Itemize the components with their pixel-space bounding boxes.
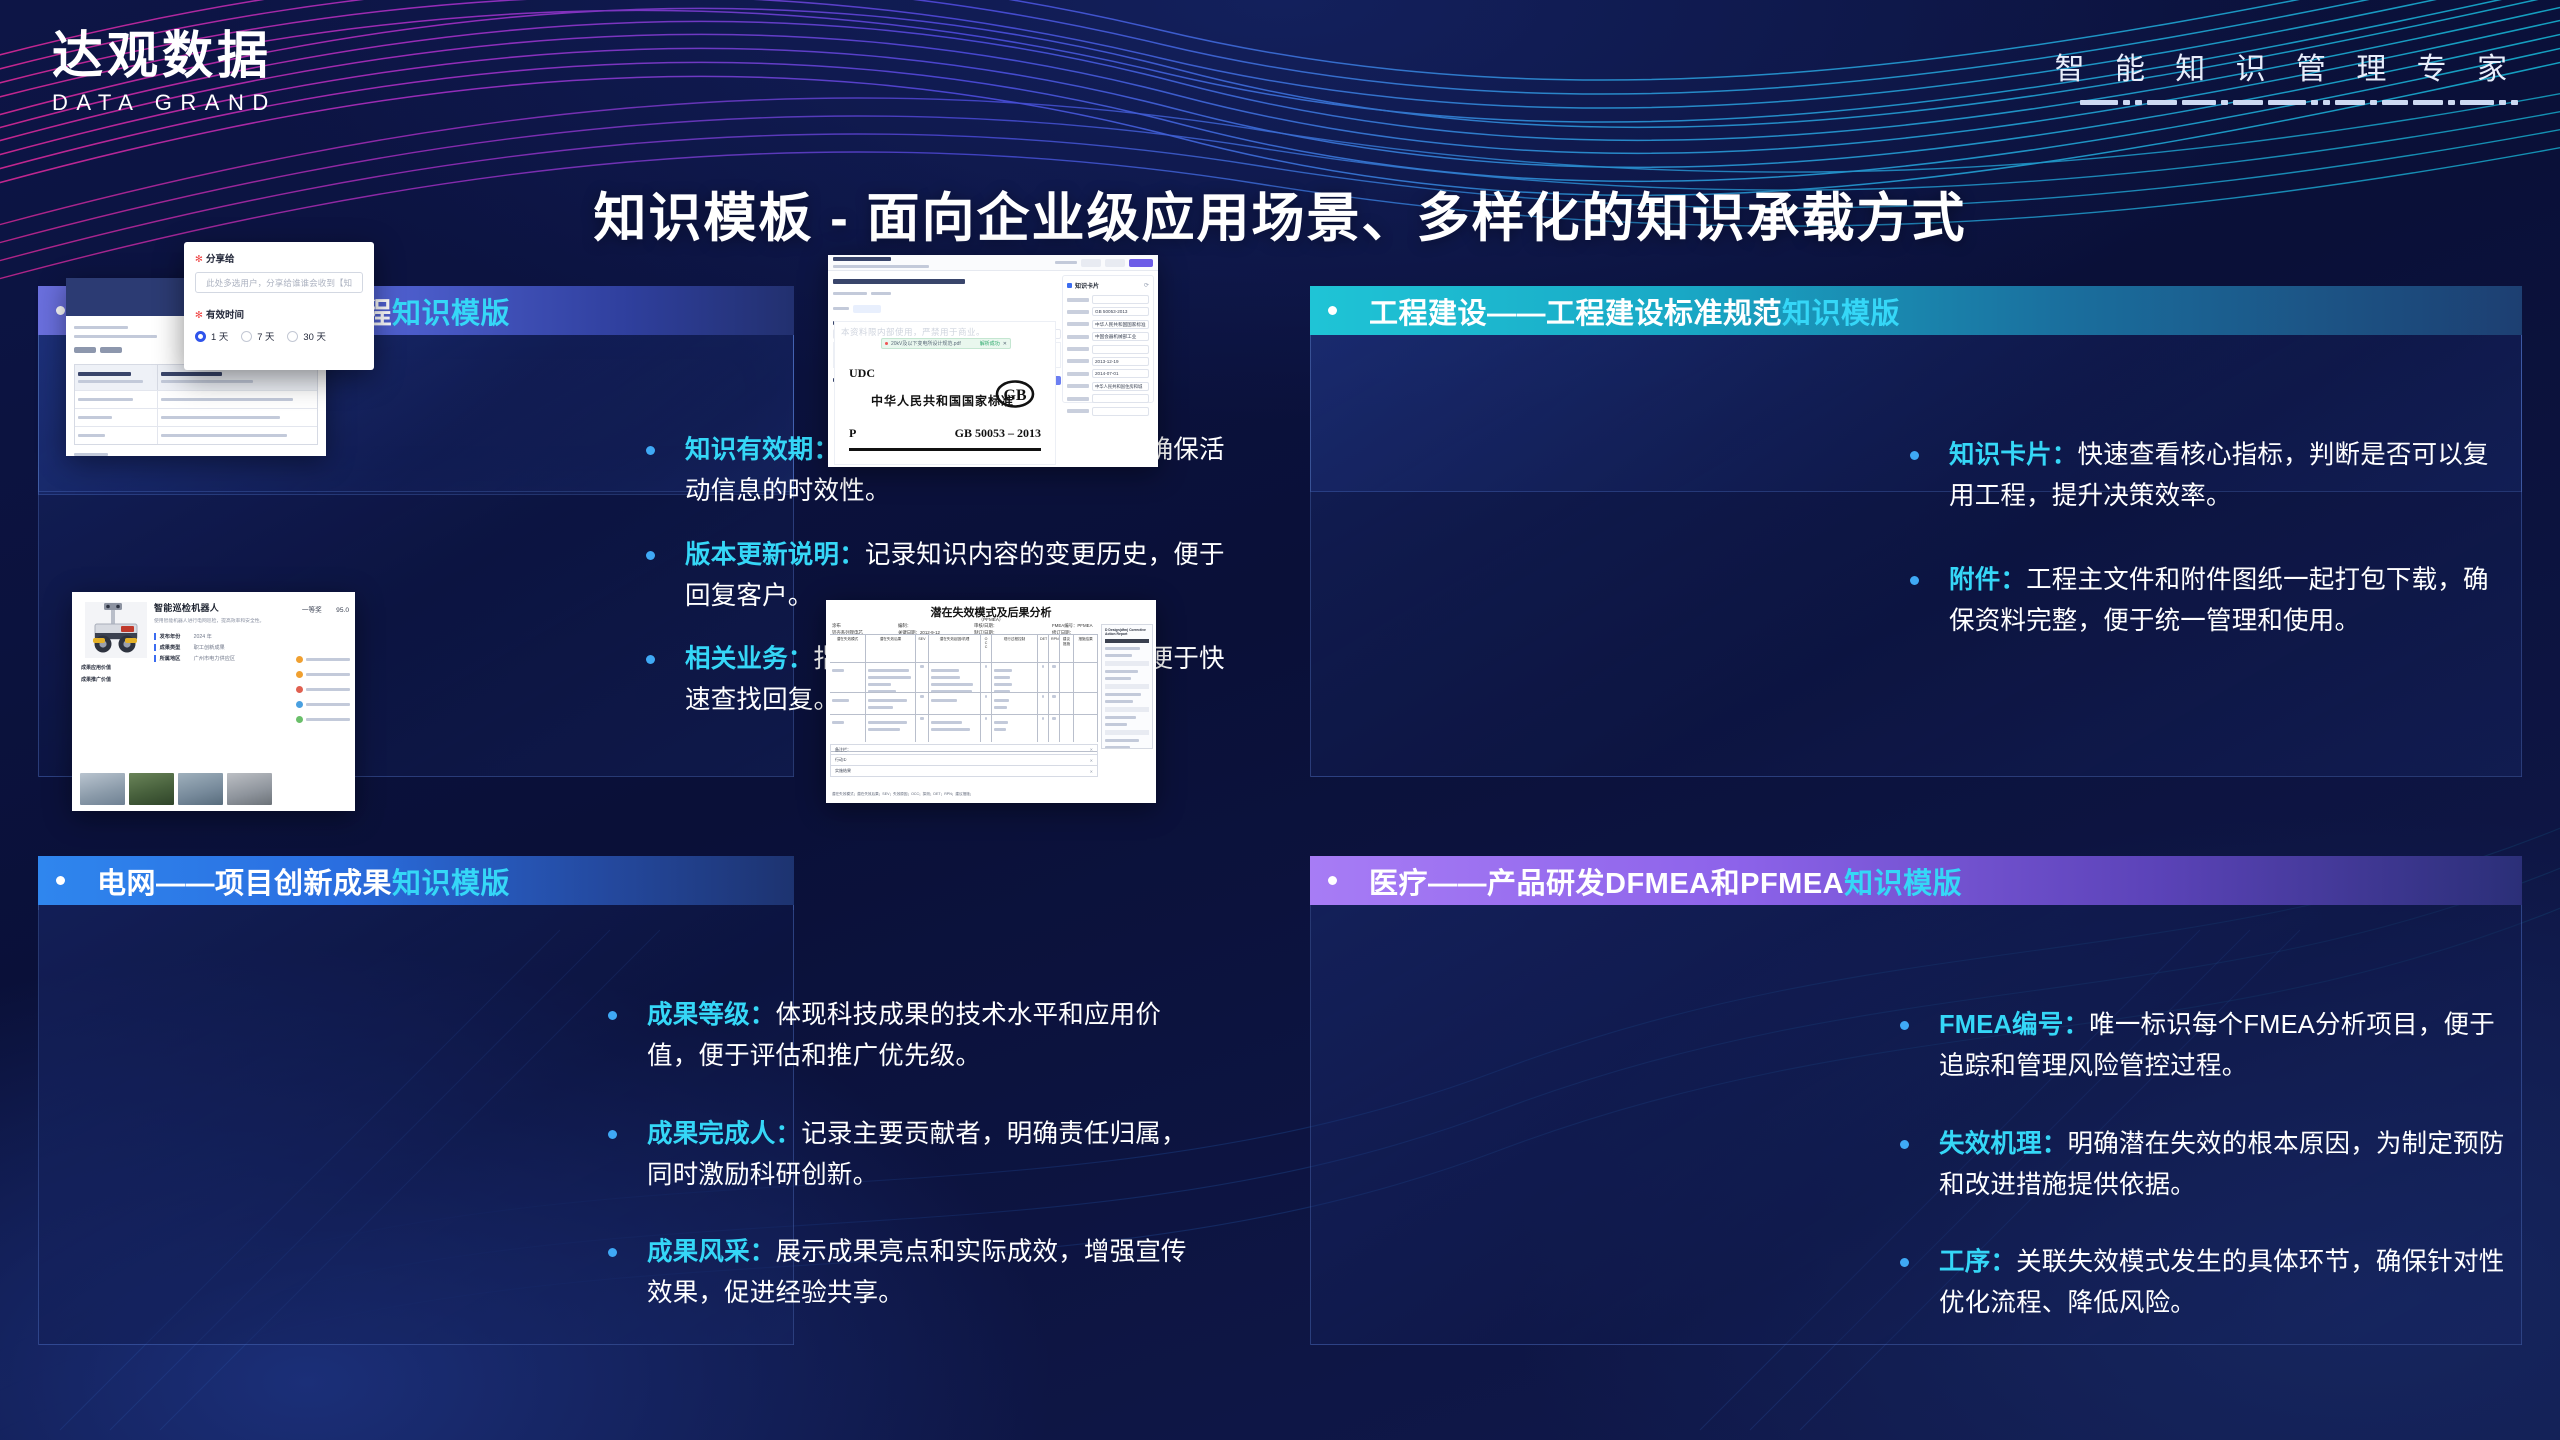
doc-title: 智能巡检机器人 — [154, 601, 285, 614]
brand-name-cn: 达观数据 — [52, 28, 382, 83]
bullet-text: 成果等级：体现科技成果的技术水平和应用价值，便于评估和推广优先级。 — [647, 995, 1188, 1078]
bullet-item: 成果风采：展示成果亮点和实际成效，增强宣传效果，促进经验共享。 — [608, 1232, 1188, 1315]
section-title: 成果推广价值 — [81, 676, 125, 683]
valid-time-label: ✻有效时间 — [195, 307, 363, 321]
bullet-text: 知识卡片：快速查看核心指标，判断是否可以复用工程，提升决策效率。 — [1949, 435, 2500, 518]
submit-button[interactable] — [1129, 259, 1153, 267]
bullet-dot-icon — [646, 551, 655, 560]
tagline-text: 智 能 知 识 管 理 专 家 — [2055, 44, 2518, 88]
bullet-dot-icon — [1328, 306, 1337, 315]
card4-header[interactable]: 医疗——产品研发DFMEA和PFMEA知识模版 — [1310, 856, 2522, 905]
field-row[interactable]: 中国会器机械部工业 — [1067, 332, 1149, 341]
grade-label: 一等奖 — [302, 604, 322, 614]
bullet-item: 知识卡片：快速查看核心指标，判断是否可以复用工程，提升决策效率。 — [1910, 435, 2500, 518]
knowledge-card-panel[interactable]: 知识卡片 ⟳ GB 50053-2013 中华人民共和国国家标准 中国会器机械部… — [1062, 275, 1154, 403]
card4-header-text: 医疗——产品研发DFMEA和PFMEA知识模版 — [1369, 860, 1962, 902]
save-button[interactable] — [1081, 259, 1101, 267]
card3-header-text: 电网——项目创新成果知识模版 — [97, 860, 510, 902]
footer-row[interactable]: 行动① ✕ — [830, 755, 1098, 766]
required-asterisk-icon: ✻ — [195, 310, 203, 321]
attachment-chip[interactable]: 20kV及以下变电所设计规范.pdf 解析成功 ✕ — [881, 338, 1011, 349]
table-header-row: 潜在失效模式 潜在失效后果 SEV 潜在失效起因/机理 O C C 现行过程控制… — [830, 634, 1098, 662]
field-row[interactable]: 2014-07-01 — [1067, 369, 1149, 378]
score-value: 95.0 — [336, 607, 349, 614]
card4-bullets: FMEA编号：唯一标识每个FMEA分析项目，便于追踪和管理风险管控过程。 失效机… — [1900, 1005, 2515, 1347]
bullet-dot-icon — [1910, 576, 1919, 585]
tagline-block: 智 能 知 识 管 理 专 家 — [2055, 44, 2518, 106]
meta-row: 成果类型 职工创新成果 — [154, 644, 285, 651]
share-to-input[interactable]: 此处多选用户，分享给谁谁会收到【知 — [195, 272, 363, 293]
footer-row[interactable]: 备注栏： ✕ — [830, 744, 1098, 755]
cover-rule — [849, 448, 1041, 451]
tagline-dash-decoration — [2055, 100, 2518, 106]
table-row[interactable] — [830, 692, 1098, 714]
bullet-dot-icon — [56, 306, 65, 315]
bullet-dot-icon — [646, 655, 655, 664]
field-row[interactable]: 2013-12-19 — [1067, 357, 1149, 366]
field-row[interactable]: 中华人民共和国国家标准 — [1067, 320, 1149, 329]
pfmea-table[interactable]: 潜在失效模式 潜在失效后果 SEV 潜在失效起因/机理 O C C 现行过程控制… — [830, 634, 1098, 752]
bullet-text: 工序：关联失效模式发生的具体环节，确保针对性优化流程、降低风险。 — [1939, 1242, 2515, 1325]
bullet-dot-icon — [608, 1130, 617, 1139]
card3-bullets: 成果等级：体现科技成果的技术水平和应用价值，便于评估和推广优先级。 成果完成人：… — [608, 995, 1188, 1337]
field-row[interactable] — [1067, 345, 1149, 354]
grade-score-block: 一等奖 95.0 — [302, 599, 349, 617]
page-title: 知识模板 - 面向企业级应用场景、多样化的知识承载方式 — [0, 176, 2560, 252]
card2-header-text: 工程建设——工程建设标准规范知识模版 — [1369, 290, 1900, 332]
radio-option-30day[interactable]: 30 天 — [287, 329, 325, 343]
bullet-dot-icon — [1328, 876, 1337, 885]
bullet-text: FMEA编号：唯一标识每个FMEA分析项目，便于追踪和管理风险管控过程。 — [1939, 1005, 2515, 1088]
close-icon[interactable]: ✕ — [1090, 758, 1093, 763]
card2-header[interactable]: 工程建设——工程建设标准规范知识模版 — [1310, 286, 2522, 335]
svg-text:GB: GB — [1003, 387, 1026, 404]
card3-screenshot-innovation[interactable]: 智能巡检机器人 使用智能机器人进行电网巡检，提高效率和安全性。 发布年份 202… — [72, 592, 355, 811]
bullet-dot-icon — [608, 1248, 617, 1257]
photo-thumbnail[interactable] — [178, 773, 223, 805]
field-row[interactable]: 中华人民共和国住房和城乡建设部 — [1067, 382, 1149, 391]
photo-thumbnail[interactable] — [80, 773, 125, 805]
bullet-item: 附件：工程主文件和附件图纸一起打包下载，确保资料完整，便于统一管理和使用。 — [1910, 560, 2500, 643]
standard-document-cover: 本资料限内部使用，严禁用于商业。 20kV及以下变电所设计规范.pdf 解析成功… — [834, 321, 1056, 465]
brand-name-en: DATA GRAND — [52, 90, 382, 116]
radio-selected-icon — [195, 331, 206, 342]
add-label-button[interactable] — [853, 305, 881, 313]
share-dialog[interactable]: ✻分享给 此处多选用户，分享给谁谁会收到【知 ✻有效时间 1 天 7 天 30 … — [184, 242, 374, 370]
standard-code: GB 50053 – 2013 — [955, 426, 1041, 441]
bullet-dot-icon — [1900, 1021, 1909, 1030]
bullet-dot-icon — [608, 1011, 617, 1020]
radio-icon — [241, 331, 252, 342]
radio-icon — [287, 331, 298, 342]
editor-toolbar[interactable] — [828, 255, 1158, 271]
corrective-action-panel[interactable]: D Design(dfm) Corrective Action Report — [1101, 624, 1153, 749]
card2-screenshot-standard-doc[interactable]: 本资料限内部使用，严禁用于商业。 20kV及以下变电所设计规范.pdf 解析成功… — [828, 255, 1158, 467]
close-icon[interactable]: ✕ — [1090, 769, 1093, 774]
table-row[interactable] — [830, 662, 1098, 692]
inspection-robot-photo — [85, 602, 147, 658]
bullet-item: 成果等级：体现科技成果的技术水平和应用价值，便于评估和推广优先级。 — [608, 995, 1188, 1078]
field-row[interactable] — [1067, 407, 1149, 416]
cover-title: 中华人民共和国国家标准 — [871, 392, 1014, 409]
udc-mark: UDC — [849, 366, 875, 381]
result-photo-strip[interactable] — [80, 773, 272, 805]
p-mark: P — [849, 426, 856, 441]
bullet-item: 成果完成人：记录主要贡献者，明确责任归属，同时激励科研创新。 — [608, 1114, 1188, 1197]
doc-subtitle: 使用智能机器人进行电网巡检，提高效率和安全性。 — [154, 617, 285, 624]
bullet-dot-icon — [646, 446, 655, 455]
watermark: 本资料限内部使用，严禁用于商业。 — [841, 326, 985, 338]
meta-row: 发布年份 2024 年 — [154, 633, 285, 640]
bullet-dot-icon — [1900, 1140, 1909, 1149]
table-row[interactable] — [830, 714, 1098, 742]
section-title: 成果应用价值 — [81, 664, 125, 671]
card4-screenshot-pfmea[interactable]: 潜在失效模式及后果分析 （PFMEA） 涂布 铝壳系列锂电芯 编制： 关键日期：… — [826, 600, 1156, 803]
card2-bullets: 知识卡片：快速查看核心指标，判断是否可以复用工程，提升决策效率。 附件：工程主文… — [1910, 435, 2500, 664]
meta-row: 所属地区 广州市电力供应区 — [154, 655, 285, 662]
valid-time-radio-group[interactable]: 1 天 7 天 30 天 — [195, 329, 363, 343]
footer-note: 潜在失效模式；潜在失效后果；SEV；失效原因；OCC；探测；DET；RPN；建议… — [832, 791, 1098, 797]
bullet-item: FMEA编号：唯一标识每个FMEA分析项目，便于追踪和管理风险管控过程。 — [1900, 1005, 2515, 1088]
bullet-item: 失效机理：明确潜在失效的根本原因，为制定预防和改进措施提供依据。 — [1900, 1124, 2515, 1207]
required-asterisk-icon: ✻ — [195, 254, 203, 265]
field-row[interactable] — [1067, 394, 1149, 403]
bullet-text: 附件：工程主文件和附件图纸一起打包下载，确保资料完整，便于统一管理和使用。 — [1949, 560, 2500, 643]
bullet-dot-icon — [1910, 451, 1919, 460]
preview-button[interactable] — [1105, 259, 1125, 267]
bullet-dot-icon — [1900, 1258, 1909, 1267]
card-icon — [1067, 283, 1072, 288]
bullet-text: 成果风采：展示成果亮点和实际成效，增强宣传效果，促进经验共享。 — [647, 1232, 1188, 1315]
share-to-label: ✻分享给 — [195, 251, 363, 265]
bullet-text: 失效机理：明确潜在失效的根本原因，为制定预防和改进措施提供依据。 — [1939, 1124, 2515, 1207]
knowledge-card-title: 知识卡片 — [1075, 281, 1099, 290]
photo-thumbnail[interactable] — [227, 773, 272, 805]
close-icon[interactable]: ✕ — [1003, 341, 1007, 347]
card3-header[interactable]: 电网——项目创新成果知识模版 — [38, 856, 794, 905]
gb-standard-logo-icon: GB — [995, 380, 1035, 408]
radio-option-1day[interactable]: 1 天 — [195, 329, 228, 343]
bullet-item: 工序：关联失效模式发生的具体环节，确保针对性优化流程、降低风险。 — [1900, 1242, 2515, 1325]
refresh-icon[interactable]: ⟳ — [1144, 282, 1149, 289]
field-row[interactable] — [1067, 295, 1149, 304]
photo-thumbnail[interactable] — [129, 773, 174, 805]
bullet-text: 成果完成人：记录主要贡献者，明确责任归属，同时激励科研创新。 — [647, 1114, 1188, 1197]
close-icon[interactable]: ✕ — [1090, 747, 1093, 752]
footer-row[interactable]: 实施结果 ✕ — [830, 766, 1098, 777]
radio-option-7day[interactable]: 7 天 — [241, 329, 274, 343]
bullet-dot-icon — [56, 876, 65, 885]
brand-logo: 达观数据 DATA GRAND — [52, 28, 382, 116]
field-row[interactable]: GB 50053-2013 — [1067, 307, 1149, 316]
